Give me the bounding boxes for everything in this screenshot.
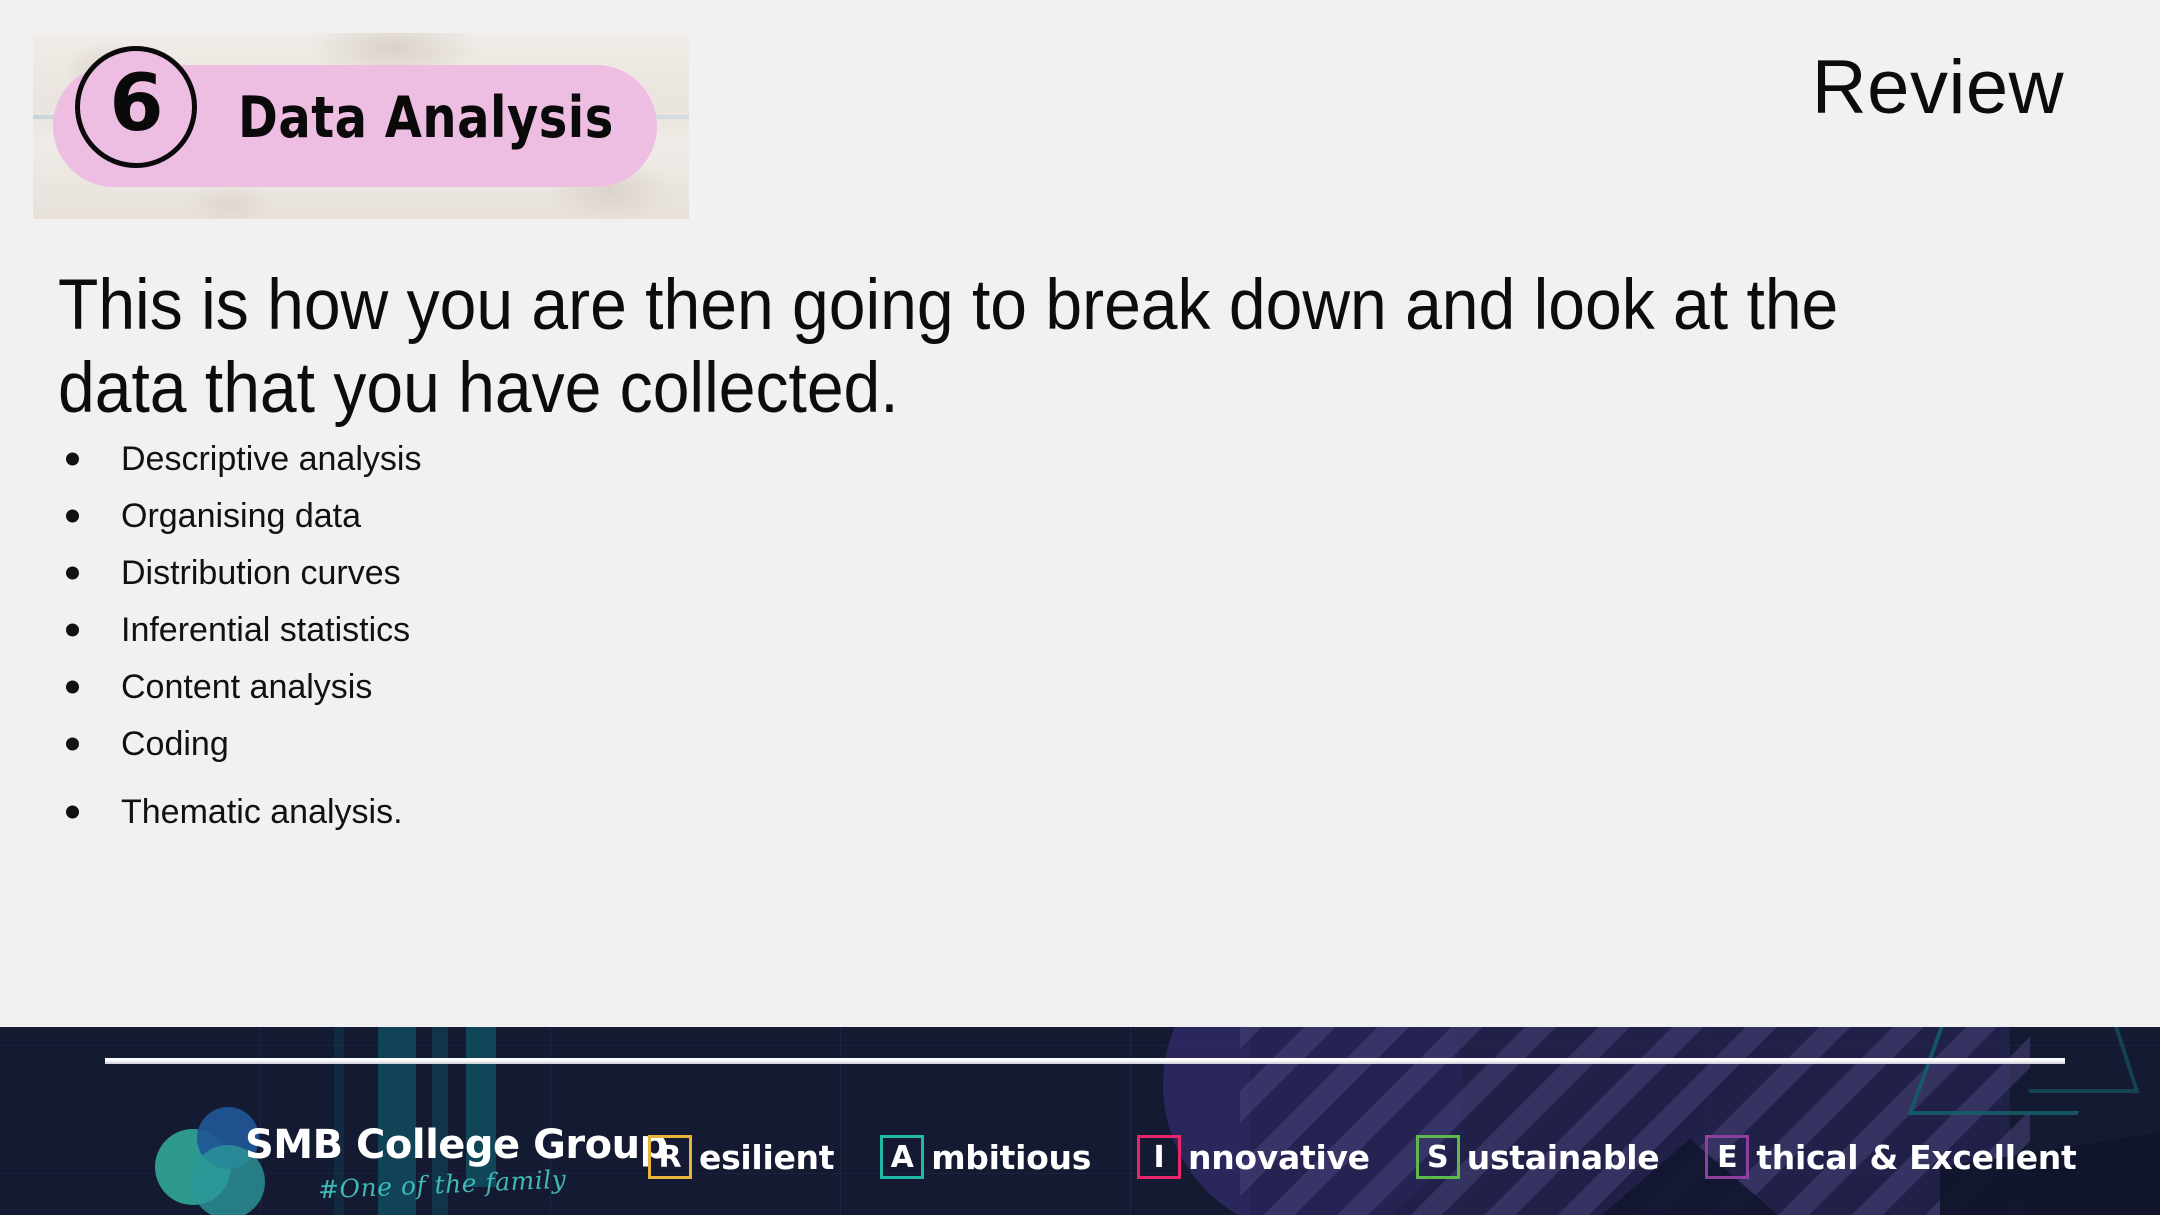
list-item: Inferential statistics bbox=[58, 611, 1258, 649]
list-item-label: Inferential statistics bbox=[121, 613, 410, 647]
bullet-dot-icon bbox=[66, 681, 79, 694]
list-item: Content analysis bbox=[58, 668, 1258, 706]
bullet-dot-icon bbox=[66, 624, 79, 637]
bullet-dot-icon bbox=[66, 806, 79, 819]
values-strip: R esilient A mbitious I nnovative S usta… bbox=[648, 1135, 2076, 1179]
bullet-list: Descriptive analysis Organising data Dis… bbox=[58, 440, 1258, 850]
badge-number: 6 bbox=[109, 65, 162, 143]
value-letter-box: I bbox=[1137, 1135, 1181, 1179]
value-word: thical & Excellent bbox=[1756, 1138, 2076, 1177]
section-badge: 6 Data Analysis bbox=[33, 33, 689, 219]
bullet-dot-icon bbox=[66, 510, 79, 523]
org-name: SMB College Group bbox=[245, 1122, 668, 1168]
list-item: Descriptive analysis bbox=[58, 440, 1258, 478]
list-item-label: Organising data bbox=[121, 499, 361, 533]
value-word: mbitious bbox=[931, 1138, 1091, 1177]
value-word: nnovative bbox=[1188, 1138, 1370, 1177]
value-letter-box: S bbox=[1416, 1135, 1460, 1179]
page-title: Review bbox=[1812, 44, 2064, 131]
slide-footer: SMB College Group #One of the family R e… bbox=[0, 1027, 2160, 1215]
list-item: Organising data bbox=[58, 497, 1258, 535]
badge-number-circle: 6 bbox=[75, 46, 197, 168]
slide: 6 Data Analysis Review This is how you a… bbox=[0, 0, 2160, 1215]
badge-title: Data Analysis bbox=[238, 85, 614, 151]
bullet-dot-icon bbox=[66, 567, 79, 580]
list-item-label: Distribution curves bbox=[121, 556, 401, 590]
list-item-label: Descriptive analysis bbox=[121, 442, 421, 476]
value-sustainable: S ustainable bbox=[1416, 1135, 1660, 1179]
list-item: Thematic analysis. bbox=[58, 793, 1258, 831]
list-item-label: Content analysis bbox=[121, 670, 372, 704]
value-letter-box: R bbox=[648, 1135, 692, 1179]
list-item: Coding bbox=[58, 725, 1258, 763]
value-resilient: R esilient bbox=[648, 1135, 834, 1179]
value-ambitious: A mbitious bbox=[880, 1135, 1091, 1179]
value-letter-box: E bbox=[1705, 1135, 1749, 1179]
bullet-dot-icon bbox=[66, 738, 79, 751]
value-word: ustainable bbox=[1467, 1138, 1660, 1177]
list-item-label: Thematic analysis. bbox=[121, 795, 403, 829]
list-item-label: Coding bbox=[121, 727, 229, 761]
value-word: esilient bbox=[699, 1138, 834, 1177]
value-innovative: I nnovative bbox=[1137, 1135, 1370, 1179]
value-ethical-excellent: E thical & Excellent bbox=[1705, 1135, 2076, 1179]
body-title: This is how you are then going to break … bbox=[58, 264, 1927, 430]
list-item: Distribution curves bbox=[58, 554, 1258, 592]
bullet-dot-icon bbox=[66, 453, 79, 466]
value-letter-box: A bbox=[880, 1135, 924, 1179]
footer-divider bbox=[105, 1058, 2065, 1064]
